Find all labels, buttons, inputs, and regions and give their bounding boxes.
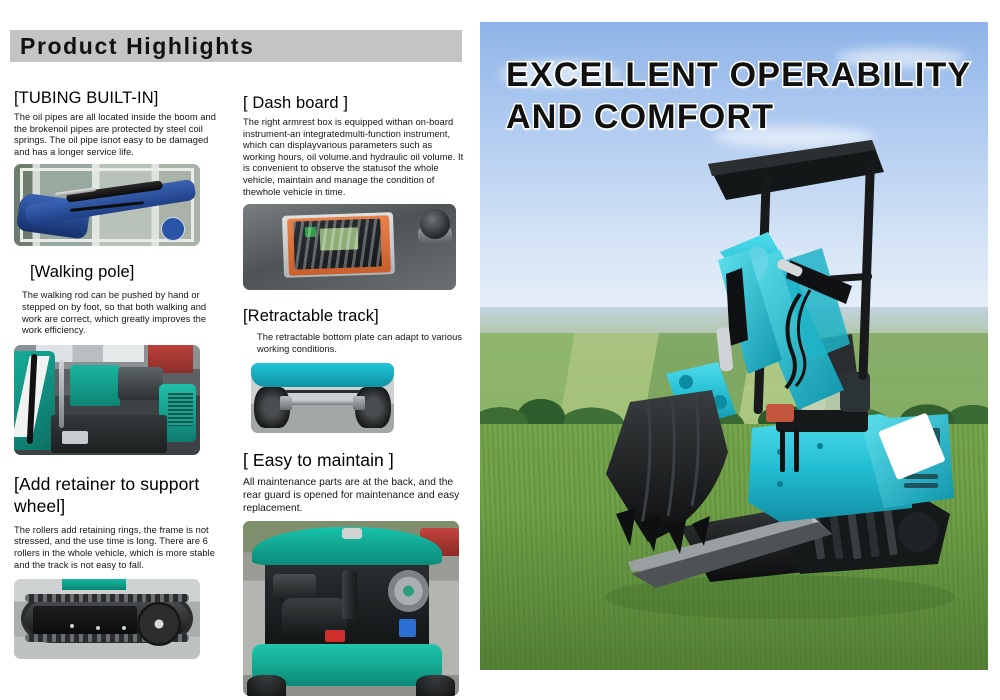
section-title-add-retainer: [Add retainer to support wheel] [14,473,219,517]
machine-bottom-plate-teal [251,363,394,387]
section-title-easy-to-maintain: [ Easy to maintain ] [243,449,465,471]
axle-hub-left [280,396,293,410]
control-knob [420,209,450,239]
orange-cover [766,404,794,422]
photo-dashboard-instrument [243,204,456,290]
roller-bolt [96,626,100,630]
photo-track-scene [14,579,200,659]
intake-pipe [342,570,357,619]
photo-engine-bay [243,521,459,696]
section-body-dash-board: The right armrest box is equipped withan… [243,117,465,198]
photo-cab-scene [14,345,200,455]
cooling-fan [388,570,429,612]
photo-boom-hydraulic-tubing [14,164,200,246]
section-title-tubing: [TUBING BUILT-IN] [14,88,219,108]
section-title-dash-board: [ Dash board ] [243,93,465,113]
operator-seat-teal [70,365,120,407]
photo-boom-scene [14,164,200,246]
highlights-column-left: [TUBING BUILT-IN] The oil pipes are all … [14,88,219,663]
photo-track-with-retainer [14,579,200,659]
photo-retractable-undercarriage [251,363,394,433]
body-bolt [817,443,823,449]
right-armrest-box [118,367,163,400]
foot-pedal [62,431,88,444]
engine-vent-louvers [168,393,192,426]
photo-cab-interior [14,345,200,455]
protective-plastic-wrap [293,219,382,270]
section-body-retractable-track: The retractable bottom plate can adapt t… [243,332,465,355]
body-bolt [777,481,783,487]
section-add-retainer: [Add retainer to support wheel] The roll… [14,473,219,659]
section-body-easy-to-maintain: All maintenance parts are at the back, a… [243,476,465,515]
blue-component [399,619,416,637]
section-retractable-track: [Retractable track] The retractable bott… [243,306,465,433]
drive-sprocket [898,512,938,552]
cross-brace-bar [285,390,359,393]
roller-bolt [70,624,74,628]
walking-pole-lever [794,430,799,472]
photo-dashboard-scene [243,204,456,290]
retractable-axle [282,400,362,405]
section-title-retractable-track: [Retractable track] [243,306,465,326]
track-cleats-top [25,594,189,602]
section-tubing-built-in: [TUBING BUILT-IN] The oil pipes are all … [14,88,219,246]
axle-hub-right [353,396,366,410]
bucket-pivot-pin [679,375,693,389]
track-frame-plate [33,606,137,635]
section-title-walking-pole: [Walking pole] [14,262,219,282]
hero-panel: EXCELLENT OPERABILITY AND COMFORT [480,22,988,670]
track-right-visible [416,675,455,696]
roller-bolt [122,626,126,630]
track-left-visible [247,675,286,696]
walking-pole-lever [59,360,64,428]
photo-retractable-scene [251,363,394,433]
highlights-column-middle: [ Dash board ] The right armrest box is … [243,93,465,700]
guard-latch [342,528,361,539]
section-easy-to-maintain: [ Easy to maintain ] All maintenance par… [243,449,465,696]
brochure-left-pane: Product Highlights [TUBING BUILT-IN] The… [0,0,470,690]
section-dash-board: [ Dash board ] The right armrest box is … [243,93,465,290]
photo-engine-scene [243,521,459,696]
boom-assembly [716,232,852,410]
machine-body-teal-edge [62,579,125,590]
section-walking-pole: [Walking pole] The walking rod can be pu… [14,262,219,454]
walking-pole-lever [780,430,785,472]
mini-excavator-illustration [480,22,988,670]
section-body-tubing: The oil pipes are all located inside the… [14,112,219,158]
canopy-post-rear [858,162,875,380]
page-title: Product Highlights [20,31,255,61]
section-body-add-retainer: The rollers add retaining rings, the fra… [14,525,219,571]
red-cap-fitting [325,630,344,642]
drive-sprocket-wheel [137,602,181,646]
section-body-walking-pole: The walking rod can be pushed by hand or… [14,290,219,336]
